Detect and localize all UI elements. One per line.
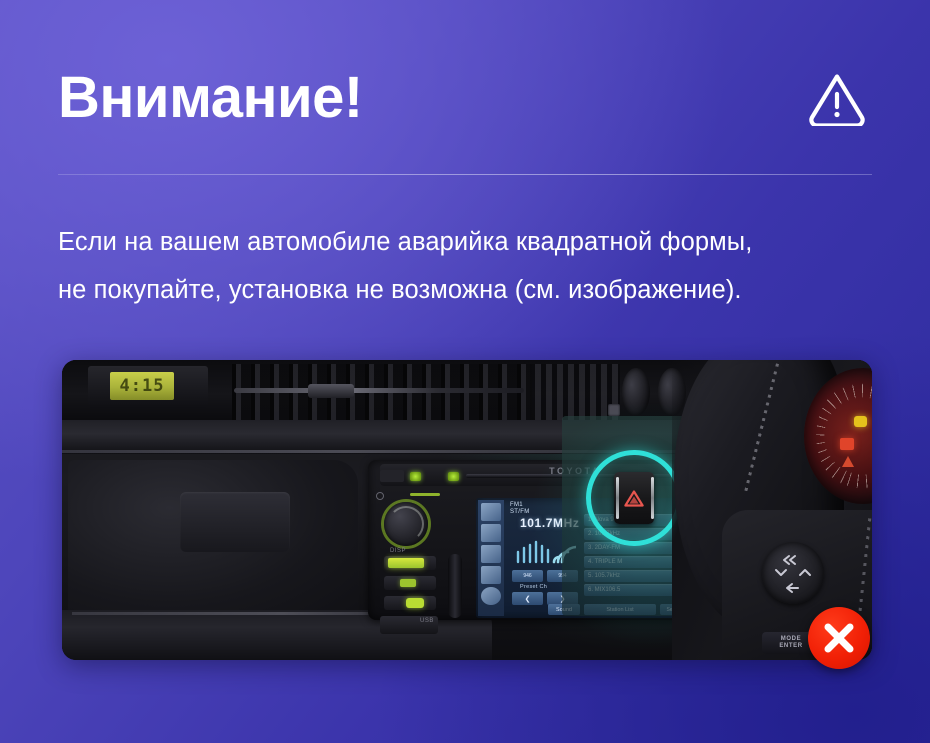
gauge-warning-light-amber <box>854 416 867 427</box>
head-unit-led-left <box>410 472 421 481</box>
car-dashboard-photo: 4:15 TOYOTA DISP USB <box>62 360 872 660</box>
mode-button-label-2: ENTER <box>779 643 802 650</box>
volume-indicator-line <box>410 493 440 496</box>
warning-banner: Внимание! Если на вашем автомобиле авари… <box>0 0 930 743</box>
hazard-button-chrome-right <box>651 477 654 519</box>
power-icon <box>376 492 384 500</box>
radio-band-label: FM1 ST/FM <box>510 502 530 516</box>
clock-value: 4:15 <box>120 376 165 396</box>
source-icon-fm <box>481 524 501 542</box>
gauge-warning-light-red <box>840 438 854 450</box>
head-unit-led-mid <box>448 472 459 481</box>
mode-button-label-1: MODE <box>781 636 801 643</box>
not-compatible-x-badge <box>808 607 870 669</box>
source-icon-bluetooth <box>481 587 501 605</box>
eject-slot <box>448 554 462 618</box>
banner-header: Внимание! <box>58 52 872 144</box>
usb-label: USB <box>420 618 434 624</box>
radio-band-value: FM1 <box>510 502 530 509</box>
hazard-button-chrome-left <box>616 477 619 519</box>
head-unit-button-lit-3 <box>406 598 424 608</box>
climate-button-left <box>608 404 620 416</box>
glovebox-latch <box>180 492 290 552</box>
warning-message-line-2: не покупайте, установка не возможна (см.… <box>58 266 888 314</box>
radio-mode-value: ST/FM <box>510 509 530 516</box>
warning-message-line-1: Если на вашем автомобиле аварийка квадра… <box>58 218 888 266</box>
preset-button-1[interactable]: 946 <box>512 570 543 582</box>
hazard-triangle-icon <box>624 490 644 507</box>
warning-message: Если на вашем автомобиле аварийка квадра… <box>58 218 888 314</box>
disp-label: DISP <box>390 548 406 554</box>
header-divider <box>58 174 872 175</box>
air-vent-slats-right <box>530 364 620 420</box>
head-unit-button-lit-2 <box>400 579 416 587</box>
page-title: Внимание! <box>58 69 363 127</box>
source-icon-cd <box>481 545 501 563</box>
volume-knob-highlight <box>388 506 424 542</box>
climate-knob-left <box>622 368 650 416</box>
tune-button <box>380 470 404 482</box>
digital-clock: 4:15 <box>110 372 174 400</box>
vent-adjuster-knob <box>308 384 354 398</box>
preset-channel-label: Preset Ch <box>520 584 547 590</box>
head-unit-button-lit-1 <box>388 558 424 568</box>
vent-adjuster-bar <box>234 388 524 393</box>
down-chevron <box>776 570 786 575</box>
rewind-arrow <box>784 556 789 564</box>
warning-triangle-icon <box>808 70 866 126</box>
source-icon-aux <box>481 566 501 584</box>
preset-prev-button[interactable]: ❮ <box>512 592 543 605</box>
steering-audio-control-pad[interactable] <box>762 542 824 604</box>
source-icon-am <box>481 503 501 521</box>
up-chevron <box>800 570 810 575</box>
